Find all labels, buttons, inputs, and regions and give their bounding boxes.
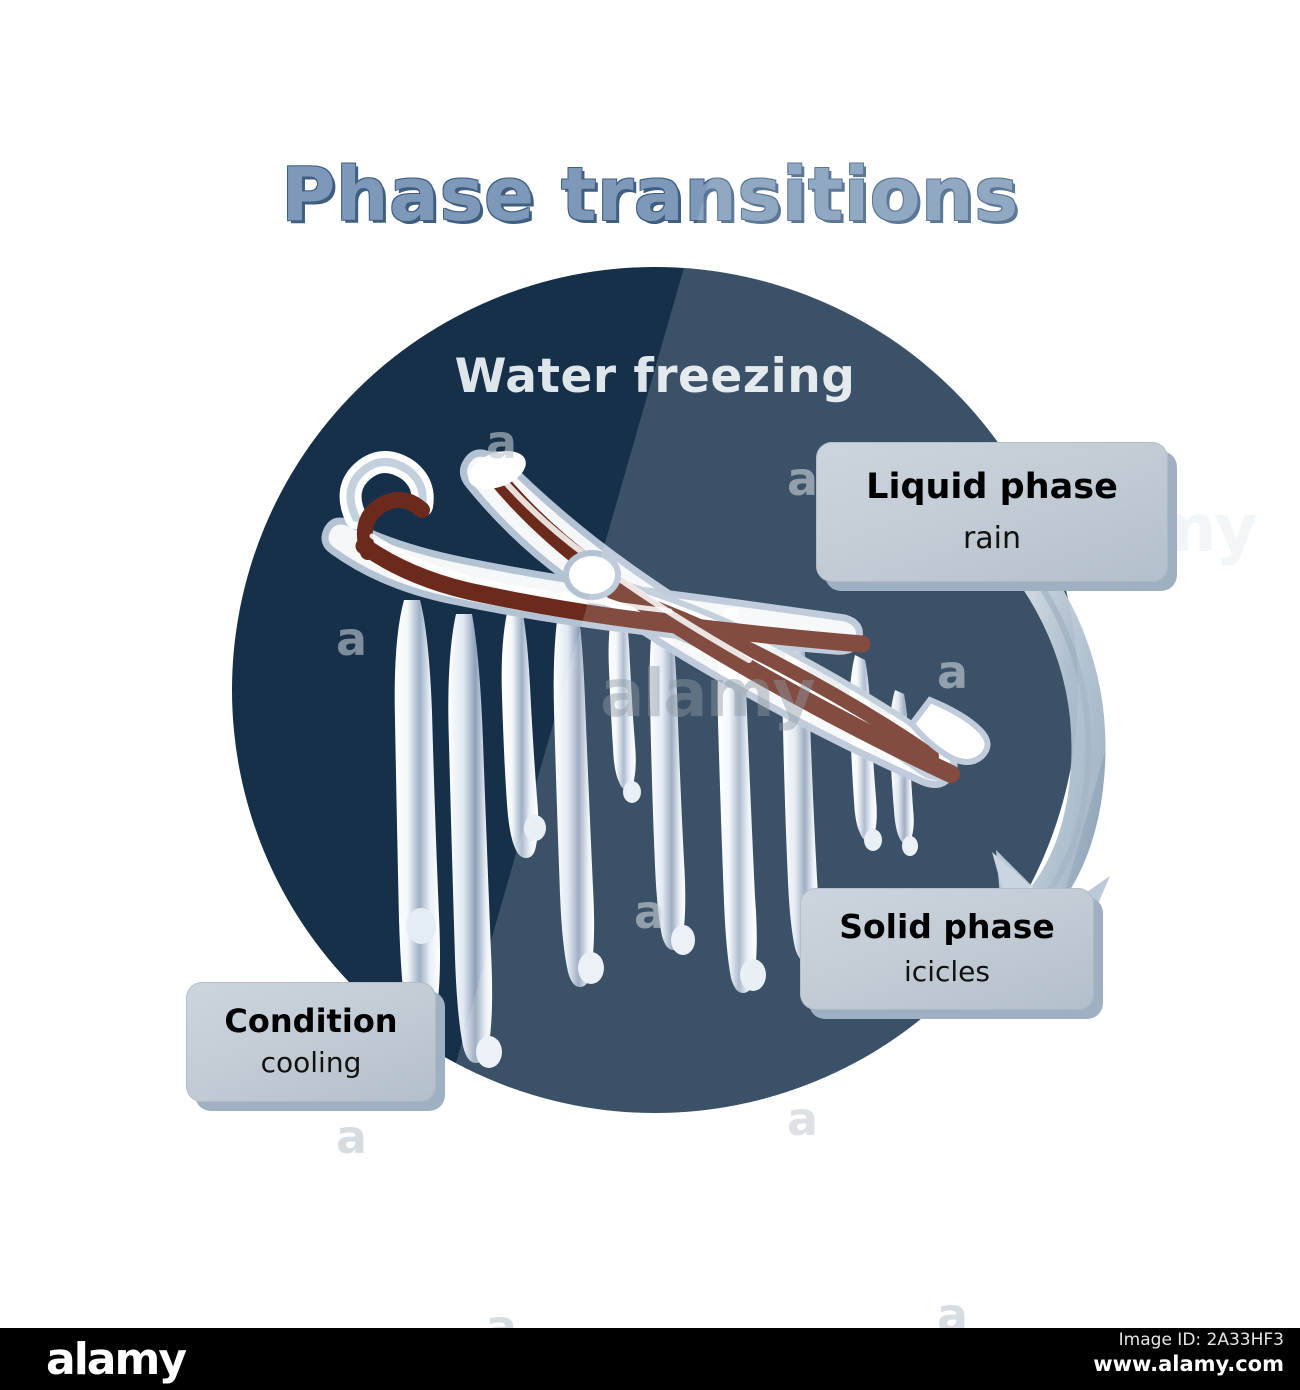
label-condition[interactable]: Condition cooling [186, 982, 436, 1102]
label-solid-phase-title: Solid phase [839, 910, 1055, 945]
label-liquid-phase-title: Liquid phase [866, 469, 1118, 506]
label-solid-phase-sub: icicles [904, 957, 990, 988]
alamy-url-text: www.alamy.com [1093, 1352, 1284, 1376]
label-condition-sub: cooling [261, 1048, 362, 1079]
image-id-text: Image ID: 2A33HF3 [1119, 1330, 1284, 1350]
label-liquid-phase[interactable]: Liquid phase rain [816, 442, 1168, 582]
alamy-footer-bar: alamy Image ID: 2A33HF3 www.alamy.com [0, 1328, 1300, 1390]
illustration-stage [0, 0, 1300, 1320]
alamy-logo: alamy [46, 1334, 185, 1385]
circle-caption: Water freezing [330, 349, 980, 404]
label-liquid-phase-sub: rain [963, 522, 1021, 555]
label-solid-phase[interactable]: Solid phase icicles [800, 888, 1094, 1010]
label-condition-title: Condition [224, 1005, 397, 1039]
image-canvas: Phase transitions [0, 0, 1300, 1390]
